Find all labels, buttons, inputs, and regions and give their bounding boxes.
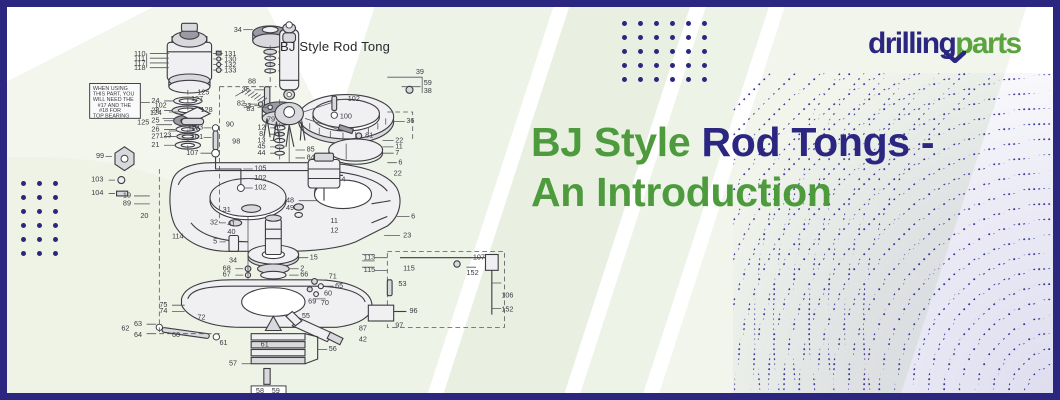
svg-text:102: 102 <box>254 183 266 192</box>
diagram-title: BJ Style Rod Tong <box>280 39 390 54</box>
svg-text:58: 58 <box>256 386 264 393</box>
svg-text:27: 27 <box>151 131 159 140</box>
svg-text:103: 103 <box>91 175 103 184</box>
svg-text:89: 89 <box>123 198 131 207</box>
svg-text:118: 118 <box>134 63 146 72</box>
brand-logo[interactable]: drillingparts <box>868 27 1021 61</box>
page-title: BJ Style Rod Tongs - An Introduction <box>531 117 1001 217</box>
svg-text:90: 90 <box>226 119 234 128</box>
svg-text:67: 67 <box>223 270 231 279</box>
svg-text:57: 57 <box>229 358 237 367</box>
svg-text:7: 7 <box>395 148 399 157</box>
svg-text:127: 127 <box>191 94 203 103</box>
svg-text:103: 103 <box>191 122 203 131</box>
svg-text:32: 32 <box>210 217 218 226</box>
svg-text:99: 99 <box>96 151 104 160</box>
svg-text:12: 12 <box>330 225 338 234</box>
banner: 110 111 117 118 131 130 132 133 125 <box>0 0 1060 400</box>
svg-text:107: 107 <box>186 148 198 157</box>
svg-text:124: 124 <box>150 108 162 117</box>
svg-text:87: 87 <box>359 323 367 332</box>
svg-text:62: 62 <box>121 323 129 332</box>
svg-text:6: 6 <box>398 158 402 167</box>
svg-text:21: 21 <box>151 140 159 149</box>
svg-text:31: 31 <box>223 205 231 214</box>
svg-text:64: 64 <box>134 330 142 339</box>
svg-text:39: 39 <box>416 67 424 76</box>
svg-text:128: 128 <box>201 105 213 114</box>
svg-text:44: 44 <box>258 148 266 157</box>
svg-text:114: 114 <box>172 232 184 241</box>
svg-text:66: 66 <box>300 270 308 279</box>
svg-text:115: 115 <box>403 263 415 272</box>
svg-text:152: 152 <box>466 268 478 277</box>
svg-text:38: 38 <box>424 86 432 95</box>
technical-diagram: 110 111 117 118 131 130 132 133 125 <box>62 17 567 393</box>
svg-text:34: 34 <box>229 255 237 264</box>
svg-text:125: 125 <box>137 118 149 127</box>
svg-text:63: 63 <box>134 319 142 328</box>
svg-text:53: 53 <box>398 279 406 288</box>
svg-text:65: 65 <box>335 281 343 290</box>
title-line1-navy: Rod Tongs - <box>702 119 935 165</box>
svg-text:60: 60 <box>172 330 180 339</box>
svg-text:22: 22 <box>394 168 402 177</box>
svg-text:70: 70 <box>321 298 329 307</box>
svg-text:97: 97 <box>395 320 403 329</box>
svg-text:61: 61 <box>261 339 269 348</box>
svg-text:59: 59 <box>272 386 280 393</box>
svg-text:81: 81 <box>365 130 373 139</box>
svg-text:100: 100 <box>340 111 352 120</box>
svg-text:79: 79 <box>267 115 275 124</box>
svg-text:55: 55 <box>302 311 310 320</box>
svg-text:36: 36 <box>406 116 414 125</box>
svg-text:61: 61 <box>220 338 228 347</box>
svg-text:106: 106 <box>501 290 513 299</box>
svg-text:72: 72 <box>197 312 205 321</box>
svg-text:5: 5 <box>213 236 217 245</box>
svg-text:60: 60 <box>324 289 332 298</box>
svg-text:40: 40 <box>227 227 235 236</box>
svg-text:71: 71 <box>329 271 337 280</box>
svg-text:20: 20 <box>140 211 148 220</box>
svg-text:152: 152 <box>501 304 513 313</box>
svg-text:TOP BEARING: TOP BEARING <box>93 113 130 119</box>
svg-text:113: 113 <box>364 252 376 261</box>
svg-text:23: 23 <box>403 230 411 239</box>
banner-inner: 110 111 117 118 131 130 132 133 125 <box>7 7 1053 393</box>
svg-text:69: 69 <box>308 297 316 306</box>
svg-text:115: 115 <box>364 265 376 274</box>
svg-text:98: 98 <box>232 137 240 146</box>
svg-text:11: 11 <box>330 216 338 225</box>
svg-text:104: 104 <box>91 188 103 197</box>
svg-text:123: 123 <box>159 130 171 139</box>
svg-text:102: 102 <box>348 94 360 103</box>
svg-text:56: 56 <box>329 344 337 353</box>
svg-text:6: 6 <box>411 211 415 220</box>
svg-text:88: 88 <box>248 77 256 86</box>
chevron-down-icon <box>944 51 966 63</box>
svg-text:133: 133 <box>224 65 236 74</box>
svg-text:74: 74 <box>159 306 167 315</box>
svg-text:34: 34 <box>234 25 242 34</box>
svg-text:96: 96 <box>409 306 417 315</box>
svg-text:15: 15 <box>310 252 318 261</box>
logo-text-drilling: drilling <box>868 27 955 60</box>
svg-text:42: 42 <box>359 335 367 344</box>
title-line1-green: BJ Style <box>531 119 702 165</box>
svg-text:105: 105 <box>254 164 266 173</box>
svg-text:102: 102 <box>254 173 266 182</box>
svg-text:82: 82 <box>237 99 245 108</box>
svg-text:49: 49 <box>286 203 294 212</box>
svg-text:4: 4 <box>341 175 345 184</box>
dot-grid-icon-top <box>622 21 718 91</box>
title-line2: An Introduction <box>531 167 1001 217</box>
svg-text:101: 101 <box>191 132 203 141</box>
svg-text:83: 83 <box>246 104 254 113</box>
svg-text:107: 107 <box>473 252 485 261</box>
